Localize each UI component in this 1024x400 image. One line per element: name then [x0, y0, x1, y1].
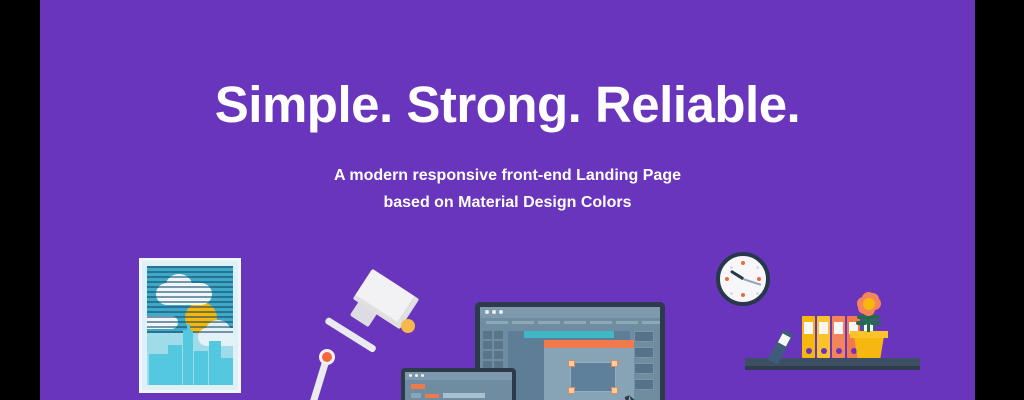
window-dot-icon[interactable]	[415, 374, 418, 377]
flower-center	[863, 298, 875, 310]
layer-thumbnail[interactable]	[634, 363, 654, 374]
menu-item[interactable]	[642, 321, 660, 324]
menu-item[interactable]	[616, 321, 638, 324]
resize-handle-icon[interactable]	[568, 387, 575, 394]
artboard[interactable]	[544, 340, 634, 400]
clock-marker-icon	[741, 261, 745, 265]
menu-item[interactable]	[564, 321, 586, 324]
lamp-joint	[319, 349, 335, 365]
laptop-window-controls[interactable]	[409, 374, 424, 377]
binder	[832, 316, 845, 358]
wall-shelf-edge	[745, 366, 920, 370]
poster-building	[221, 358, 233, 385]
artboard-accent-bar	[544, 340, 634, 348]
poster-artwork	[147, 266, 233, 385]
laptop-screen	[405, 372, 512, 400]
layers-panel[interactable]	[633, 331, 657, 400]
flower-leaf	[870, 321, 881, 325]
binder	[802, 316, 815, 358]
poster-window-blinds	[147, 266, 233, 333]
poster-building	[149, 354, 168, 385]
poster-cityscape	[147, 330, 233, 385]
menu-item[interactable]	[486, 321, 508, 324]
resize-handle-icon[interactable]	[611, 387, 618, 394]
menu-item[interactable]	[590, 321, 612, 324]
laptop-content-row	[411, 393, 421, 398]
hero-banner: Simple. Strong. Reliable. A modern respo…	[0, 0, 1024, 400]
clock-marker-icon	[741, 293, 745, 297]
window-dot-icon[interactable]	[485, 310, 489, 314]
canvas-area[interactable]	[508, 331, 630, 400]
clock-tick-icon	[756, 266, 759, 269]
clock-tick-icon	[756, 292, 759, 295]
window-dot-icon[interactable]	[492, 310, 496, 314]
laptop-title-bar	[405, 372, 512, 380]
wall-clock	[716, 252, 770, 306]
canvas-tab[interactable]	[524, 331, 614, 338]
layer-thumbnail[interactable]	[634, 331, 654, 342]
window-dot-icon[interactable]	[499, 310, 503, 314]
tool-button[interactable]	[483, 351, 492, 359]
window-dot-icon[interactable]	[421, 374, 424, 377]
layer-thumbnail[interactable]	[634, 379, 654, 390]
tool-button[interactable]	[494, 351, 503, 359]
menu-item[interactable]	[538, 321, 560, 324]
menu-item[interactable]	[512, 321, 534, 324]
laptop-content-row	[443, 393, 485, 398]
flower-pot	[854, 336, 884, 358]
clock-tick-icon	[730, 266, 733, 269]
laptop	[401, 368, 516, 400]
resize-handle-icon[interactable]	[611, 360, 618, 367]
laptop-accent-bar	[411, 384, 425, 389]
clock-hour-hand	[729, 270, 743, 280]
app-title-bar	[480, 307, 660, 318]
layer-thumbnail[interactable]	[634, 347, 654, 358]
clock-marker-icon	[757, 277, 761, 281]
tool-button[interactable]	[494, 331, 503, 339]
laptop-accent-bar	[425, 394, 439, 398]
hero-illustration	[40, 0, 975, 400]
flower-leaf	[856, 321, 867, 325]
poster-building	[209, 341, 221, 385]
tool-button[interactable]	[494, 341, 503, 349]
flower-bloom-icon	[857, 292, 881, 316]
clock-marker-icon	[725, 277, 729, 281]
hero-section: Simple. Strong. Reliable. A modern respo…	[40, 0, 975, 400]
lamp-lower-arm	[309, 359, 329, 400]
poster-antenna	[187, 324, 190, 385]
poster-building	[168, 345, 183, 386]
window-controls[interactable]	[485, 310, 503, 314]
selected-shape[interactable]	[570, 362, 616, 392]
app-menu-bar[interactable]	[480, 318, 660, 327]
potted-flower	[845, 300, 893, 358]
letterbox-bar-right	[975, 0, 1024, 400]
binder	[817, 316, 830, 358]
letterbox-bar-left	[0, 0, 40, 400]
resize-handle-icon[interactable]	[568, 360, 575, 367]
tool-button[interactable]	[483, 331, 492, 339]
framed-poster	[139, 258, 241, 393]
lamp-bulb-icon	[401, 319, 415, 333]
window-dot-icon[interactable]	[409, 374, 412, 377]
flower-pot-rim	[850, 331, 888, 338]
tool-button[interactable]	[483, 341, 492, 349]
clock-tick-icon	[730, 292, 733, 295]
poster-building	[194, 351, 208, 385]
arrow-cursor-icon	[625, 395, 633, 400]
